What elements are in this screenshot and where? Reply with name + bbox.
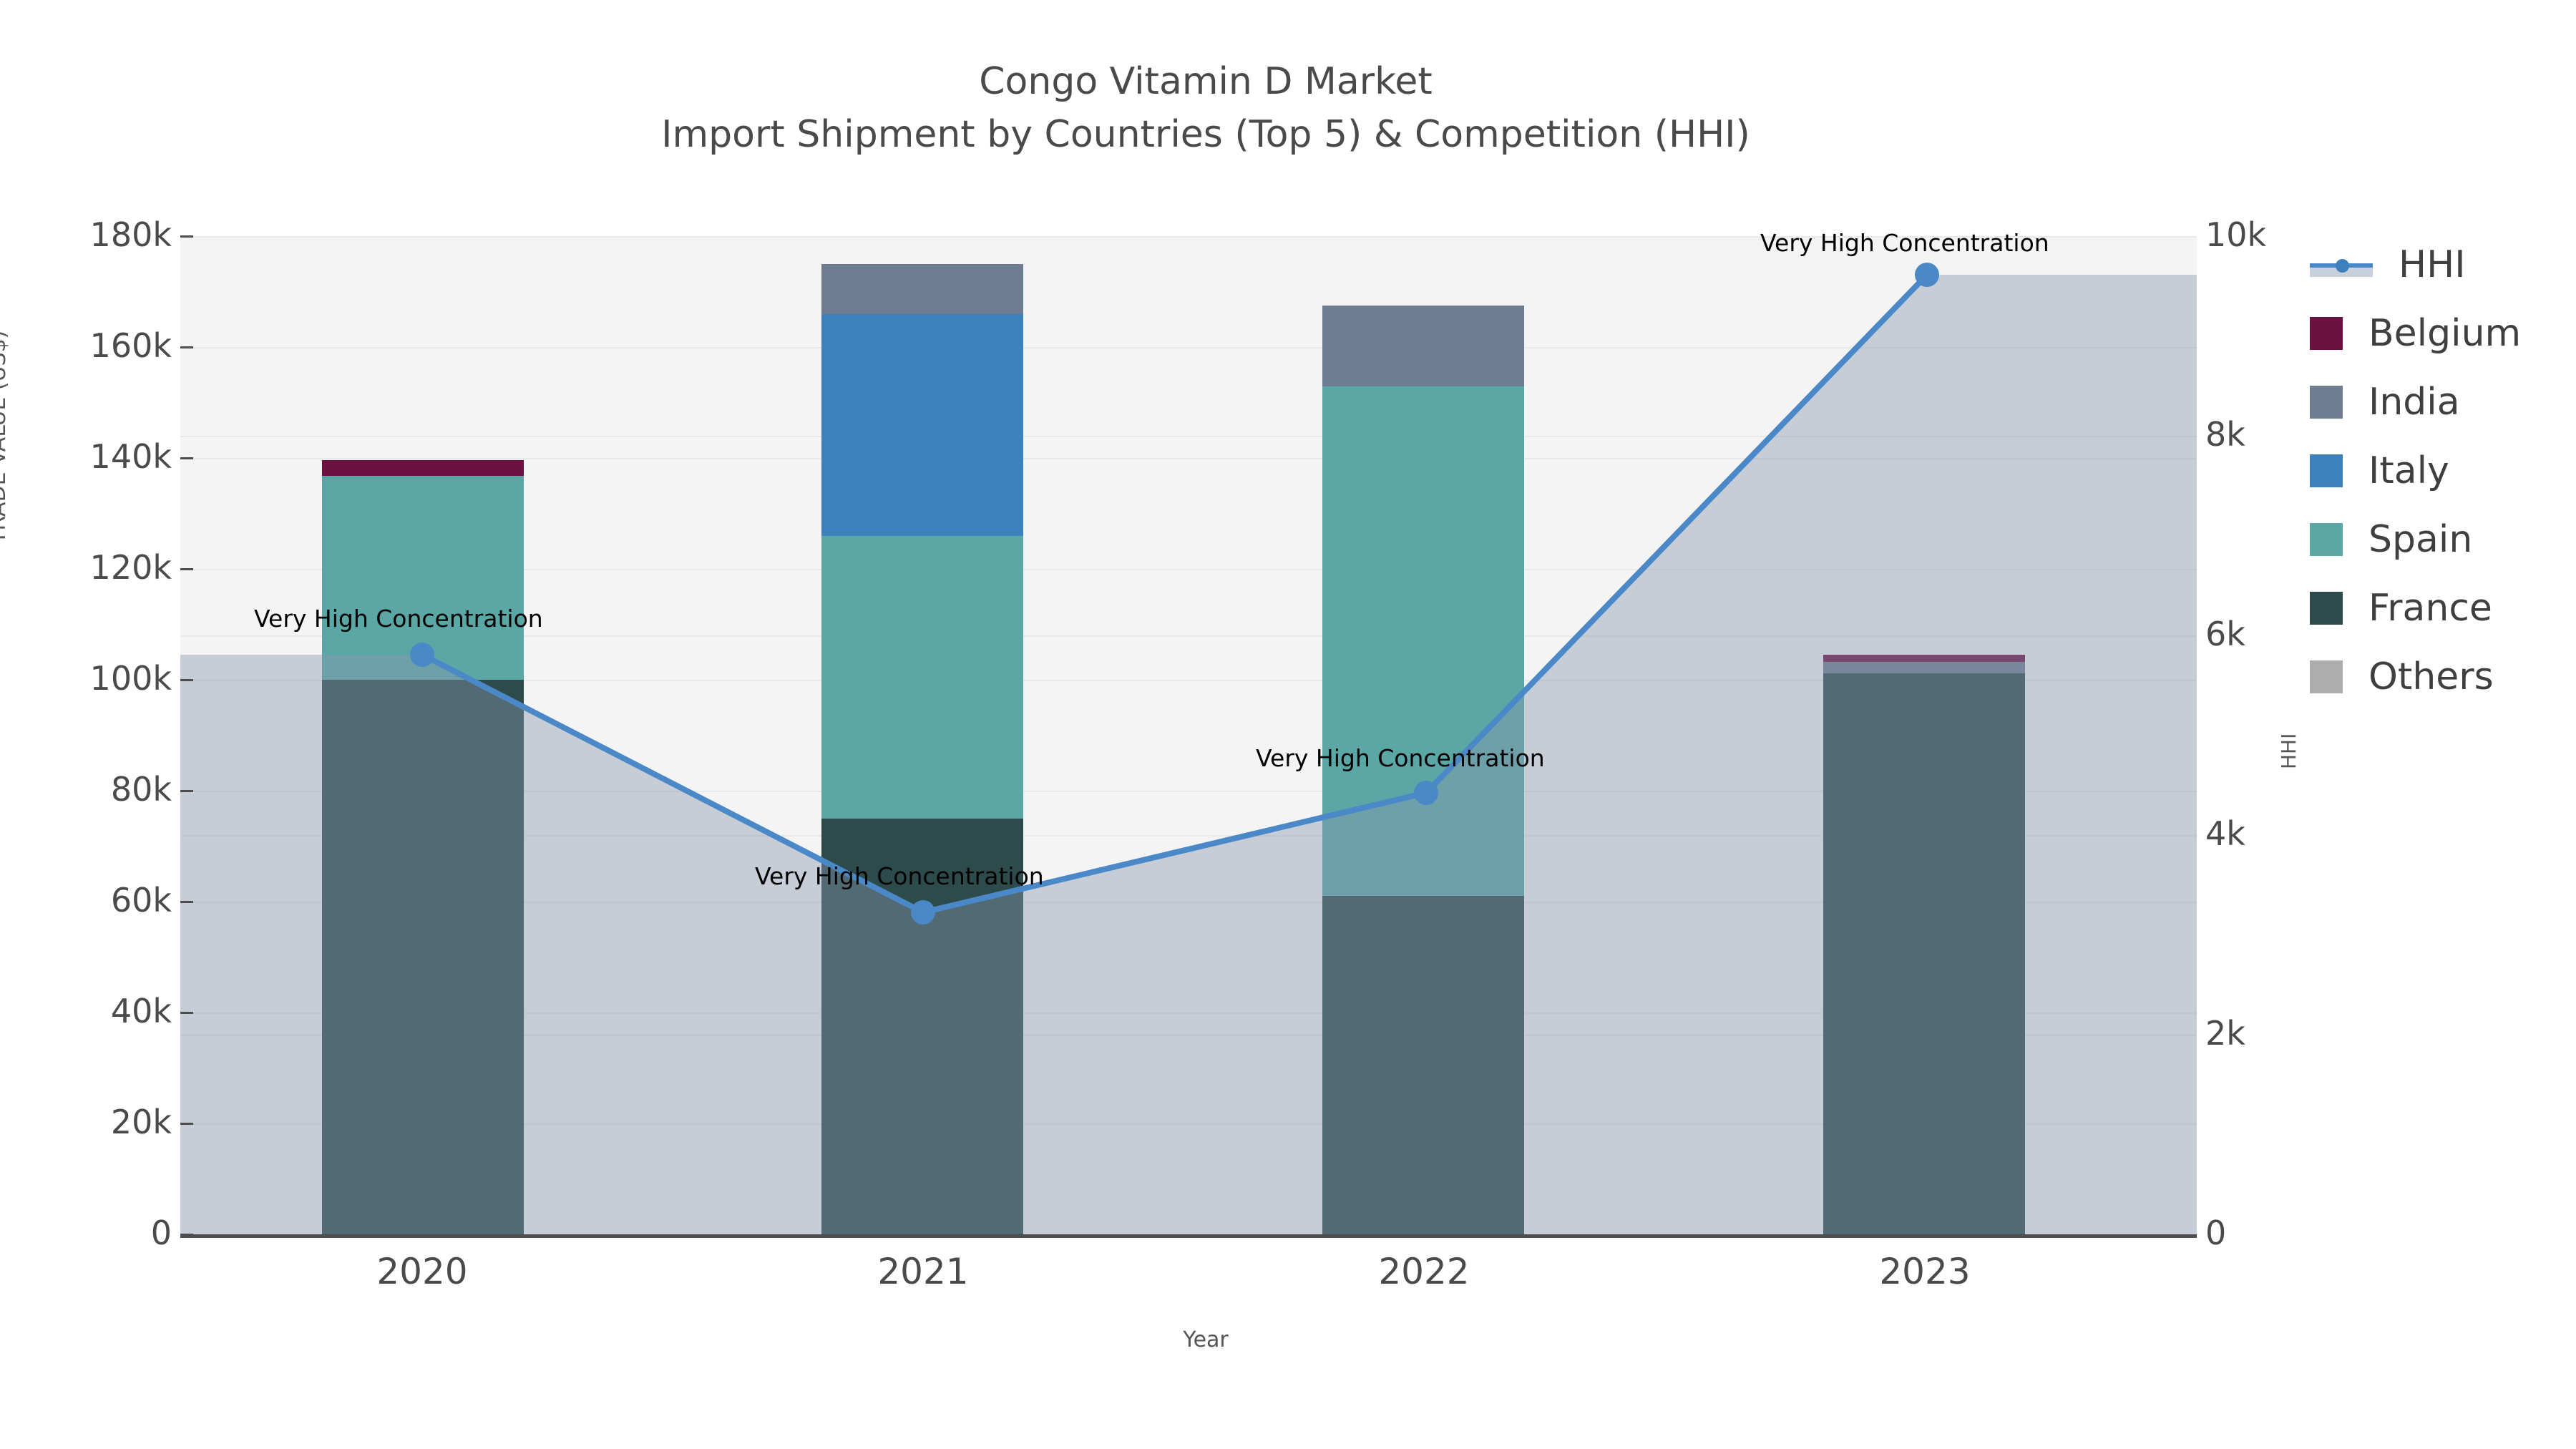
x-tick-2023: 2023 xyxy=(1782,1251,2068,1292)
x-tick-2020: 2020 xyxy=(279,1251,565,1292)
chart-title-line-1: Congo Vitamin D Market xyxy=(0,56,2411,109)
x-axis-baseline xyxy=(180,1234,2197,1238)
bar-stack-2023[interactable] xyxy=(1823,655,2025,1234)
y-left-tick-120k: 120k xyxy=(21,551,172,584)
legend-item-france[interactable]: France xyxy=(2310,574,2567,643)
swatch-belgium-icon xyxy=(2310,317,2343,350)
y-left-tickmark-0 xyxy=(180,1234,193,1236)
y-left-tickmark-100k xyxy=(180,679,193,681)
y-axis-right-label: HHI xyxy=(2277,733,2301,769)
chart-title-line-2: Import Shipment by Countries (Top 5) & C… xyxy=(0,109,2411,162)
swatch-france-icon xyxy=(2310,592,2343,625)
bar-segment-spain-2022[interactable] xyxy=(1322,386,1524,896)
y-left-tickmark-140k xyxy=(180,457,193,459)
y-left-tick-80k: 80k xyxy=(21,773,172,806)
bar-segment-belgium-2020[interactable] xyxy=(322,460,524,476)
y-left-tick-160k: 160k xyxy=(21,329,172,362)
x-axis-label: Year xyxy=(0,1327,2411,1352)
x-tick-2022: 2022 xyxy=(1281,1251,1567,1292)
legend-label-india: India xyxy=(2368,384,2460,421)
y-left-tick-180k: 180k xyxy=(21,218,172,251)
y-axis-left-label: TRADE VALUE (US$) xyxy=(0,331,11,544)
annotation-2023: Very High Concentration xyxy=(1760,229,2049,257)
bar-segment-spain-2021[interactable] xyxy=(821,536,1023,819)
bar-segment-france-2022[interactable] xyxy=(1322,896,1524,1234)
legend-item-belgium[interactable]: Belgium xyxy=(2310,299,2567,368)
swatch-others-icon xyxy=(2310,660,2343,693)
y-left-tickmark-160k xyxy=(180,346,193,348)
legend-label-hhi: HHI xyxy=(2399,246,2466,283)
annotation-2020: Very High Concentration xyxy=(254,605,543,633)
y-left-tick-40k: 40k xyxy=(21,995,172,1028)
legend-item-hhi[interactable]: HHI xyxy=(2310,230,2567,299)
legend-label-others: Others xyxy=(2368,658,2494,696)
x-tick-2021: 2021 xyxy=(780,1251,1066,1292)
bar-segment-spain-2020[interactable] xyxy=(322,476,524,680)
y-left-tickmark-180k xyxy=(180,235,193,238)
swatch-italy-icon xyxy=(2310,454,2343,487)
legend-item-india[interactable]: India xyxy=(2310,368,2567,436)
annotation-2021: Very High Concentration xyxy=(755,862,1044,890)
legend-label-spain: Spain xyxy=(2368,521,2472,558)
bar-stack-2021[interactable] xyxy=(821,264,1023,1234)
gridline-hhi-8k xyxy=(180,436,2197,437)
swatch-spain-icon xyxy=(2310,523,2343,556)
swatch-india-icon xyxy=(2310,386,2343,419)
y-left-tickmark-60k xyxy=(180,901,193,903)
bar-segment-india-2022[interactable] xyxy=(1322,306,1524,386)
gridline-140k xyxy=(180,458,2197,459)
y-left-tickmark-80k xyxy=(180,790,193,792)
bar-segment-belgium-2023[interactable] xyxy=(1823,655,2025,662)
y-left-tickmark-120k xyxy=(180,568,193,570)
legend-item-others[interactable]: Others xyxy=(2310,643,2567,711)
y-left-tickmark-40k xyxy=(180,1012,193,1014)
legend-item-italy[interactable]: Italy xyxy=(2310,436,2567,505)
y-right-tick-2k: 2k xyxy=(2205,1017,2341,1050)
y-left-tick-20k: 20k xyxy=(21,1106,172,1138)
y-left-tick-60k: 60k xyxy=(21,884,172,917)
y-left-tick-0: 0 xyxy=(21,1216,172,1249)
bar-segment-france-2023[interactable] xyxy=(1823,673,2025,1234)
y-right-tick-4k: 4k xyxy=(2205,817,2341,850)
legend-label-belgium: Belgium xyxy=(2368,315,2521,352)
bar-segment-india-2021[interactable] xyxy=(821,264,1023,314)
bar-segment-france-2020[interactable] xyxy=(322,680,524,1234)
chart-title: Congo Vitamin D Market Import Shipment b… xyxy=(0,56,2411,162)
legend-label-italy: Italy xyxy=(2368,452,2449,489)
bar-stack-2020[interactable] xyxy=(322,460,524,1234)
legend-item-spain[interactable]: Spain xyxy=(2310,505,2567,574)
y-right-tick-0: 0 xyxy=(2205,1216,2341,1249)
y-left-tick-140k: 140k xyxy=(21,440,172,473)
gridline-160k xyxy=(180,347,2197,348)
y-left-tick-100k: 100k xyxy=(21,662,172,695)
hhi-line-icon xyxy=(2310,248,2373,281)
legend: HHI Belgium India Italy Spain France Oth… xyxy=(2310,230,2567,711)
legend-label-france: France xyxy=(2368,590,2492,627)
bar-segment-india-2023[interactable] xyxy=(1823,662,2025,673)
annotation-2022: Very High Concentration xyxy=(1256,744,1545,772)
bar-segment-italy-2021[interactable] xyxy=(821,314,1023,536)
y-left-tickmark-20k xyxy=(180,1123,193,1125)
